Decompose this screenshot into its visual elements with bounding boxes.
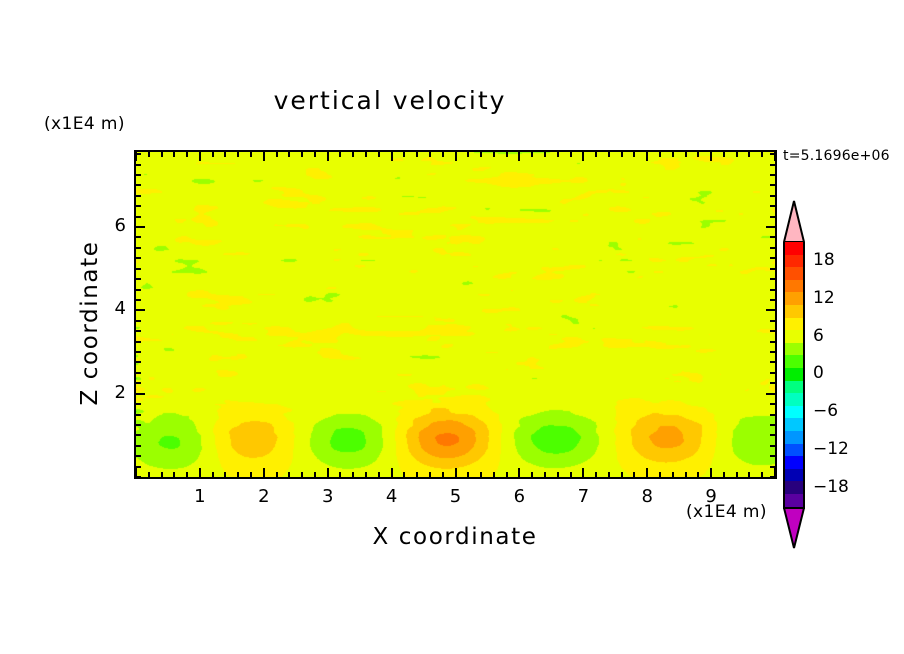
y-axis-tick — [136, 372, 141, 374]
x-axis-tick — [582, 152, 584, 161]
x-axis-tick — [646, 468, 648, 477]
x-axis-tick — [736, 472, 738, 477]
colorbar-tick-label: −12 — [813, 439, 849, 459]
y-axis-tick — [770, 361, 775, 363]
y-axis-tick — [770, 153, 775, 155]
x-axis-tick — [544, 472, 546, 477]
y-axis-tick — [136, 414, 141, 416]
z-axis-unit-label: (x1E4 m) — [44, 114, 125, 134]
x-axis-tick — [429, 472, 431, 477]
y-axis-tick — [770, 164, 775, 166]
y-axis-tick — [766, 309, 775, 311]
y-axis-tick — [136, 476, 141, 478]
x-axis-tick — [467, 472, 469, 477]
x-axis-tick — [608, 472, 610, 477]
time-stamp-label: t=5.1696e+06 — [783, 148, 890, 164]
x-axis-tick — [199, 152, 201, 161]
y-axis-tick — [770, 341, 775, 343]
y-axis-tick — [770, 434, 775, 436]
x-axis-tick — [416, 152, 418, 157]
y-axis-tick — [770, 236, 775, 238]
x-axis-tick — [161, 472, 163, 477]
y-axis-tick — [770, 299, 775, 301]
x-axis-tick — [186, 152, 188, 157]
x-axis-tick — [250, 152, 252, 157]
x-axis-tick — [595, 472, 597, 477]
contour-plot-canvas — [136, 152, 775, 477]
y-axis-tick — [770, 382, 775, 384]
x-axis-tick — [697, 472, 699, 477]
y-axis-tick — [136, 361, 141, 363]
x-axis-tick — [710, 468, 712, 477]
x-tick-label: 6 — [499, 486, 539, 507]
y-axis-tick — [136, 445, 141, 447]
x-tick-label: 5 — [436, 486, 476, 507]
x-axis-tick — [378, 472, 380, 477]
y-axis-tick — [770, 403, 775, 405]
x-axis-tick — [224, 472, 226, 477]
x-axis-tick — [314, 472, 316, 477]
y-axis-tick — [136, 247, 141, 249]
x-axis-tick — [659, 152, 661, 157]
x-axis-tick — [416, 472, 418, 477]
colorbar-over-arrow — [783, 200, 805, 242]
y-axis-tick — [136, 195, 141, 197]
x-axis-tick — [480, 152, 482, 157]
x-axis-tick — [582, 468, 584, 477]
x-axis-tick — [633, 472, 635, 477]
y-axis-tick — [136, 393, 145, 395]
y-axis-tick — [770, 455, 775, 457]
x-axis-tick — [212, 472, 214, 477]
x-axis-tick — [339, 472, 341, 477]
colorbar-tick-label: 0 — [813, 363, 824, 383]
x-axis-tick — [685, 152, 687, 157]
y-axis-tick — [770, 445, 775, 447]
page-title: vertical velocity — [0, 86, 780, 115]
y-axis-tick — [770, 476, 775, 478]
x-axis-tick — [352, 152, 354, 157]
y-axis-tick — [136, 351, 141, 353]
y-axis-tick — [136, 236, 141, 238]
x-axis-tick — [506, 152, 508, 157]
x-axis-tick — [697, 152, 699, 157]
x-axis-tick — [263, 468, 265, 477]
x-axis-tick — [173, 472, 175, 477]
x-axis-tick — [659, 472, 661, 477]
y-axis-tick — [770, 205, 775, 207]
x-axis-tick — [301, 472, 303, 477]
y-axis-tick — [136, 216, 141, 218]
x-axis-tick — [173, 152, 175, 157]
colorbar-tick-label: 6 — [813, 326, 824, 346]
x-tick-label: 7 — [563, 486, 603, 507]
x-axis-tick — [672, 472, 674, 477]
x-axis-tick — [621, 152, 623, 157]
x-axis-tick — [710, 152, 712, 161]
colorbar-tick-label: 18 — [813, 250, 835, 270]
x-axis-tick — [595, 152, 597, 157]
x-axis-tick — [391, 468, 393, 477]
y-axis-tick — [770, 320, 775, 322]
y-axis-tick — [770, 247, 775, 249]
x-axis-tick — [608, 152, 610, 157]
y-axis-tick — [136, 330, 141, 332]
y-axis-title: Z coordinate — [77, 208, 103, 438]
y-axis-tick — [136, 403, 141, 405]
y-axis-tick — [766, 226, 775, 228]
x-axis-tick — [314, 152, 316, 157]
x-axis-title: X coordinate — [330, 524, 580, 550]
x-axis-tick — [365, 152, 367, 157]
x-axis-tick — [263, 152, 265, 161]
x-axis-tick — [723, 472, 725, 477]
x-axis-tick — [442, 152, 444, 157]
x-axis-tick — [557, 152, 559, 157]
y-axis-tick — [136, 434, 141, 436]
x-axis-tick — [455, 152, 457, 161]
y-axis-tick — [136, 299, 141, 301]
y-axis-tick — [770, 414, 775, 416]
x-tick-label: 2 — [244, 486, 284, 507]
y-axis-tick — [136, 205, 141, 207]
y-axis-tick — [770, 372, 775, 374]
x-axis-tick — [480, 472, 482, 477]
x-axis-tick — [518, 152, 520, 161]
x-axis-tick — [148, 472, 150, 477]
x-axis-tick — [237, 152, 239, 157]
y-axis-tick — [136, 424, 141, 426]
x-axis-tick — [250, 472, 252, 477]
y-axis-tick — [136, 164, 141, 166]
x-axis-tick — [518, 468, 520, 477]
x-tick-label: 4 — [372, 486, 412, 507]
x-axis-tick — [391, 152, 393, 161]
x-axis-tick — [365, 472, 367, 477]
y-axis-tick — [770, 330, 775, 332]
x-axis-tick — [403, 472, 405, 477]
x-axis-tick — [186, 472, 188, 477]
y-axis-tick — [136, 184, 141, 186]
x-axis-unit-label: (x1E4 m) — [686, 502, 767, 522]
x-axis-tick — [761, 472, 763, 477]
x-axis-tick — [276, 472, 278, 477]
y-axis-tick — [770, 257, 775, 259]
x-axis-tick — [544, 152, 546, 157]
y-axis-tick — [136, 309, 145, 311]
x-axis-tick — [570, 472, 572, 477]
colorbar-tick-label: 12 — [813, 288, 835, 308]
y-axis-tick — [770, 351, 775, 353]
y-axis-tick — [136, 455, 141, 457]
x-axis-tick — [327, 152, 329, 161]
x-axis-tick — [736, 152, 738, 157]
y-axis-tick — [136, 153, 141, 155]
x-axis-tick — [301, 152, 303, 157]
y-axis-tick — [770, 195, 775, 197]
y-axis-tick — [136, 320, 141, 322]
x-axis-tick — [531, 152, 533, 157]
x-axis-tick — [672, 152, 674, 157]
x-axis-tick — [455, 468, 457, 477]
x-axis-tick — [161, 152, 163, 157]
y-axis-tick — [136, 257, 141, 259]
y-axis-tick — [136, 174, 141, 176]
x-axis-tick — [339, 152, 341, 157]
y-axis-tick — [136, 278, 141, 280]
x-axis-tick — [224, 152, 226, 157]
colorbar-tick-label: −6 — [813, 401, 838, 421]
y-axis-tick — [770, 424, 775, 426]
y-axis-tick — [770, 466, 775, 468]
y-axis-tick — [770, 268, 775, 270]
x-axis-tick — [403, 152, 405, 157]
y-axis-tick — [136, 268, 141, 270]
x-axis-tick — [148, 152, 150, 157]
x-axis-tick — [531, 472, 533, 477]
x-axis-tick — [493, 152, 495, 157]
y-axis-tick — [136, 289, 141, 291]
x-axis-tick — [557, 472, 559, 477]
x-axis-tick — [352, 472, 354, 477]
x-axis-tick — [646, 152, 648, 161]
x-axis-tick — [378, 152, 380, 157]
x-axis-tick — [199, 468, 201, 477]
x-axis-tick — [621, 472, 623, 477]
y-axis-tick — [136, 466, 141, 468]
x-tick-label: 3 — [308, 486, 348, 507]
x-axis-tick — [237, 472, 239, 477]
figure-root: vertical velocity (x1E4 m) t=5.1696e+06 … — [0, 0, 904, 654]
x-axis-tick — [506, 472, 508, 477]
x-axis-tick — [748, 472, 750, 477]
x-axis-tick — [429, 152, 431, 157]
x-axis-tick — [748, 152, 750, 157]
y-axis-tick — [770, 289, 775, 291]
y-axis-tick — [770, 216, 775, 218]
x-axis-tick — [761, 152, 763, 157]
y-axis-tick — [136, 226, 145, 228]
y-axis-tick — [136, 341, 141, 343]
x-axis-tick — [723, 152, 725, 157]
x-axis-tick — [570, 152, 572, 157]
y-axis-tick — [770, 278, 775, 280]
x-axis-tick — [493, 472, 495, 477]
x-axis-tick — [467, 152, 469, 157]
x-axis-tick — [276, 152, 278, 157]
y-axis-tick — [766, 393, 775, 395]
colorbar-tick-label: −18 — [813, 477, 849, 497]
x-axis-tick — [685, 472, 687, 477]
y-axis-tick — [136, 382, 141, 384]
x-tick-label: 1 — [180, 486, 220, 507]
x-tick-label: 8 — [627, 486, 667, 507]
x-axis-tick — [327, 468, 329, 477]
x-axis-tick — [212, 152, 214, 157]
y-axis-tick — [770, 184, 775, 186]
colorbar-under-arrow — [783, 507, 805, 549]
x-axis-tick — [442, 472, 444, 477]
x-axis-tick — [288, 152, 290, 157]
x-axis-tick — [633, 152, 635, 157]
y-axis-tick — [770, 174, 775, 176]
x-axis-tick — [288, 472, 290, 477]
